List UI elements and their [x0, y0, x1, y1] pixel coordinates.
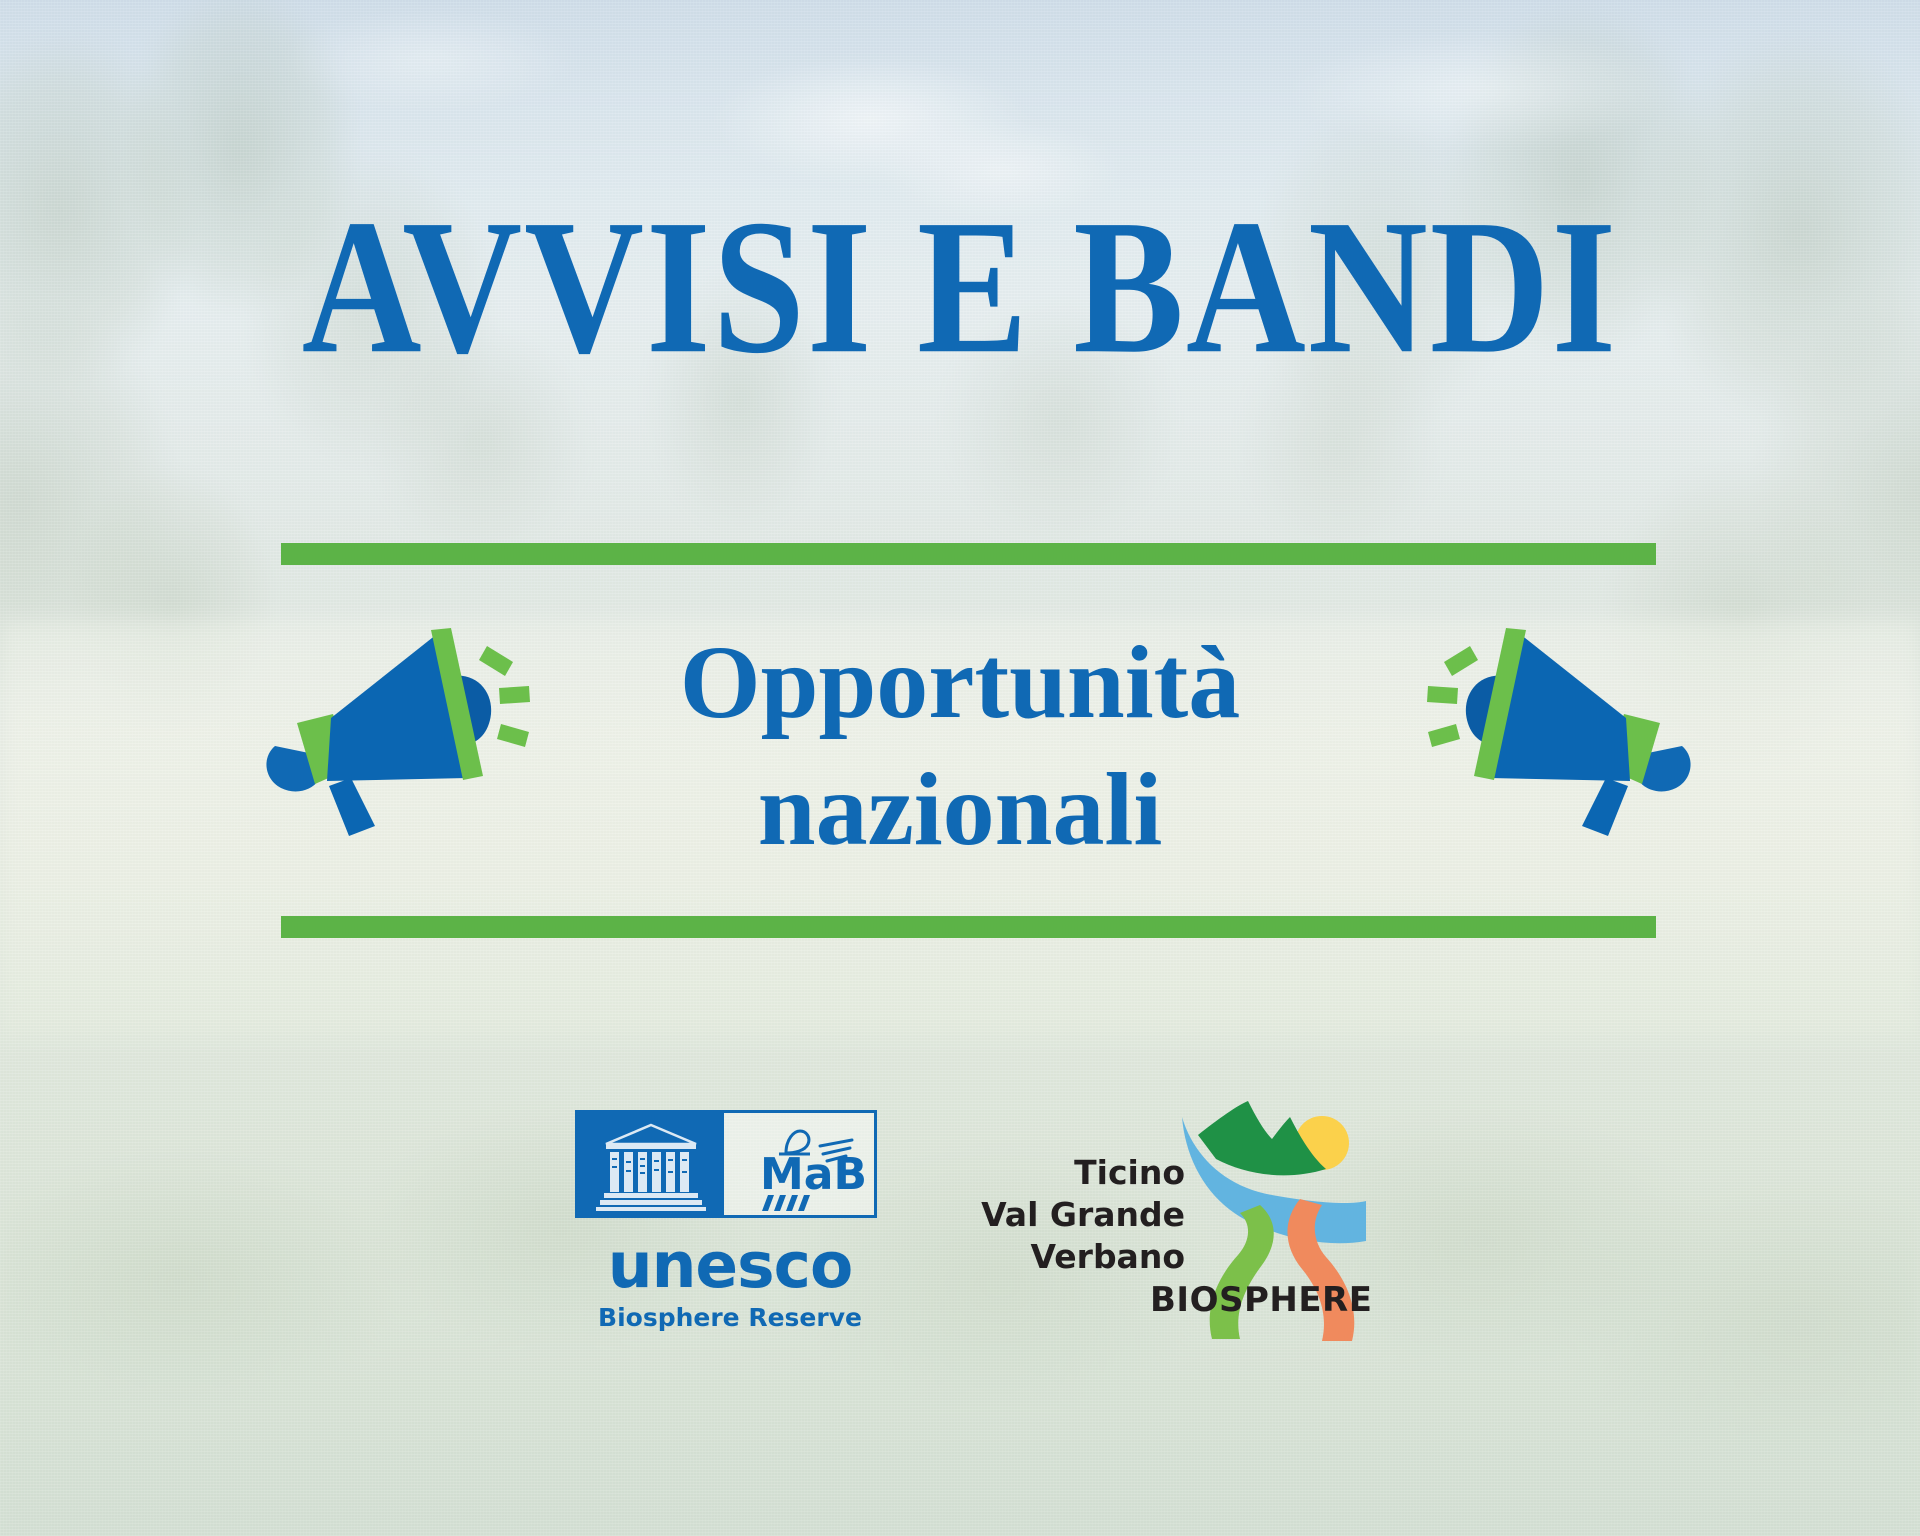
unesco-wordmark: unesco	[575, 1234, 885, 1297]
unesco-temple-icon	[578, 1113, 724, 1215]
unesco-tagline: Biosphere Reserve	[575, 1305, 885, 1330]
mab-emblem: MaB	[724, 1113, 874, 1215]
unesco-logo: MaB	[575, 1110, 885, 1330]
green-rule-top	[281, 543, 1656, 565]
svg-text:MaB: MaB	[760, 1149, 867, 1200]
mab-icon: MaB	[724, 1113, 874, 1215]
ticino-name-line-2: Val Grande	[945, 1194, 1185, 1236]
ticino-logo-name: Ticino Val Grande Verbano	[945, 1152, 1185, 1279]
logo-row: MaB	[0, 1100, 1920, 1360]
ticino-name-line-1: Ticino	[945, 1152, 1185, 1194]
poster: AVVISI E BANDI	[0, 0, 1920, 1536]
green-rule-bottom	[281, 916, 1656, 938]
subtitle: Opportunità nazionali	[460, 620, 1460, 874]
biosphere-label: BIOSPHERE	[1150, 1280, 1372, 1320]
subtitle-line-1: Opportunità	[460, 620, 1460, 747]
ticino-name-line-3: Verbano	[945, 1236, 1185, 1278]
unesco-temple-emblem	[578, 1113, 724, 1215]
unesco-emblem-box: MaB	[575, 1110, 877, 1218]
ticino-val-grande-verbano-logo: Ticino Val Grande Verbano	[945, 1100, 1365, 1350]
page-title: AVVISI E BANDI	[0, 190, 1920, 383]
poster-content: AVVISI E BANDI	[0, 0, 1920, 1536]
subtitle-line-2: nazionali	[460, 747, 1460, 874]
